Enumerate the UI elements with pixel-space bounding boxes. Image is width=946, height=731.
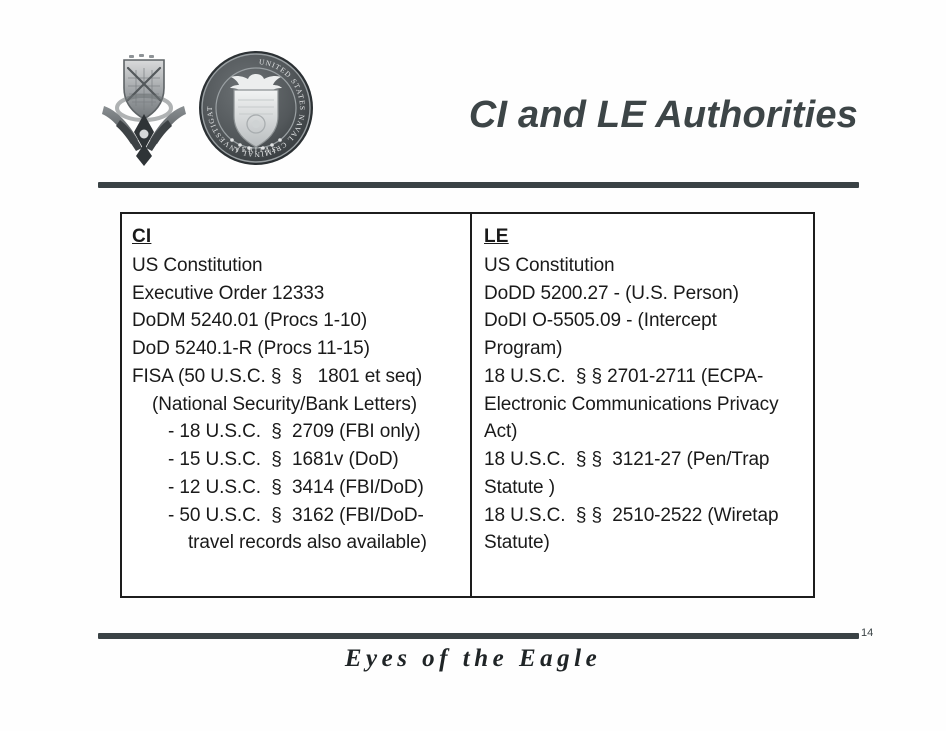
- authority-line: US Constitution: [484, 252, 805, 280]
- column-ci-lines: US ConstitutionExecutive Order 12333DoDM…: [132, 252, 462, 557]
- authority-line: DoD 5240.1-R (Procs 11-15): [132, 335, 462, 363]
- authority-line: Act): [484, 418, 805, 446]
- authority-line: Statute ): [484, 474, 805, 502]
- authority-line: FISA (50 U.S.C. § § 1801 et seq): [132, 363, 462, 391]
- authority-line: 18 U.S.C. § § 2510-2522 (Wiretap: [484, 502, 805, 530]
- column-header-ci: CI: [132, 224, 462, 251]
- afosi-seal-icon: [98, 48, 190, 168]
- authority-line: - 12 U.S.C. § 3414 (FBI/DoD): [132, 474, 462, 502]
- authority-line: DoDI O-5505.09 - (Intercept: [484, 307, 805, 335]
- authority-line: DoDM 5240.01 (Procs 1-10): [132, 307, 462, 335]
- agency-logos: UNITED STATES NAVAL CRIMINAL INVESTIGATI…: [98, 48, 316, 168]
- authority-line: - 50 U.S.C. § 3162 (FBI/DoD-: [132, 502, 462, 530]
- column-header-le: LE: [484, 224, 805, 251]
- footer-divider: [98, 633, 859, 639]
- authority-line: Program): [484, 335, 805, 363]
- authority-line: travel records also available): [132, 529, 462, 557]
- page-number: 14: [861, 627, 873, 639]
- footer-motto: Eyes of the Eagle: [0, 645, 946, 673]
- slide-header: UNITED STATES NAVAL CRIMINAL INVESTIGATI…: [98, 48, 858, 176]
- authority-line: US Constitution: [132, 252, 462, 280]
- authority-line: 18 U.S.C. § § 3121-27 (Pen/Trap: [484, 446, 805, 474]
- authority-line: Electronic Communications Privacy: [484, 391, 805, 419]
- column-ci: CI US ConstitutionExecutive Order 12333D…: [122, 214, 472, 596]
- ncis-seal-icon: UNITED STATES NAVAL CRIMINAL INVESTIGATI…: [196, 48, 316, 168]
- authority-line: DoDD 5200.27 - (U.S. Person): [484, 280, 805, 308]
- authority-line: - 15 U.S.C. § 1681v (DoD): [132, 446, 462, 474]
- slide-canvas: UNITED STATES NAVAL CRIMINAL INVESTIGATI…: [0, 0, 946, 731]
- column-le: LE US ConstitutionDoDD 5200.27 - (U.S. P…: [472, 214, 813, 596]
- authorities-table: CI US ConstitutionExecutive Order 12333D…: [120, 212, 815, 598]
- authority-line: - 18 U.S.C. § 2709 (FBI only): [132, 418, 462, 446]
- authority-line: (National Security/Bank Letters): [132, 391, 462, 419]
- page-title: CI and LE Authorities: [469, 94, 858, 137]
- header-divider: [98, 182, 859, 188]
- column-le-lines: US ConstitutionDoDD 5200.27 - (U.S. Pers…: [484, 252, 805, 557]
- authority-line: Statute): [484, 529, 805, 557]
- authority-line: Executive Order 12333: [132, 280, 462, 308]
- authority-line: 18 U.S.C. § § 2701-2711 (ECPA-: [484, 363, 805, 391]
